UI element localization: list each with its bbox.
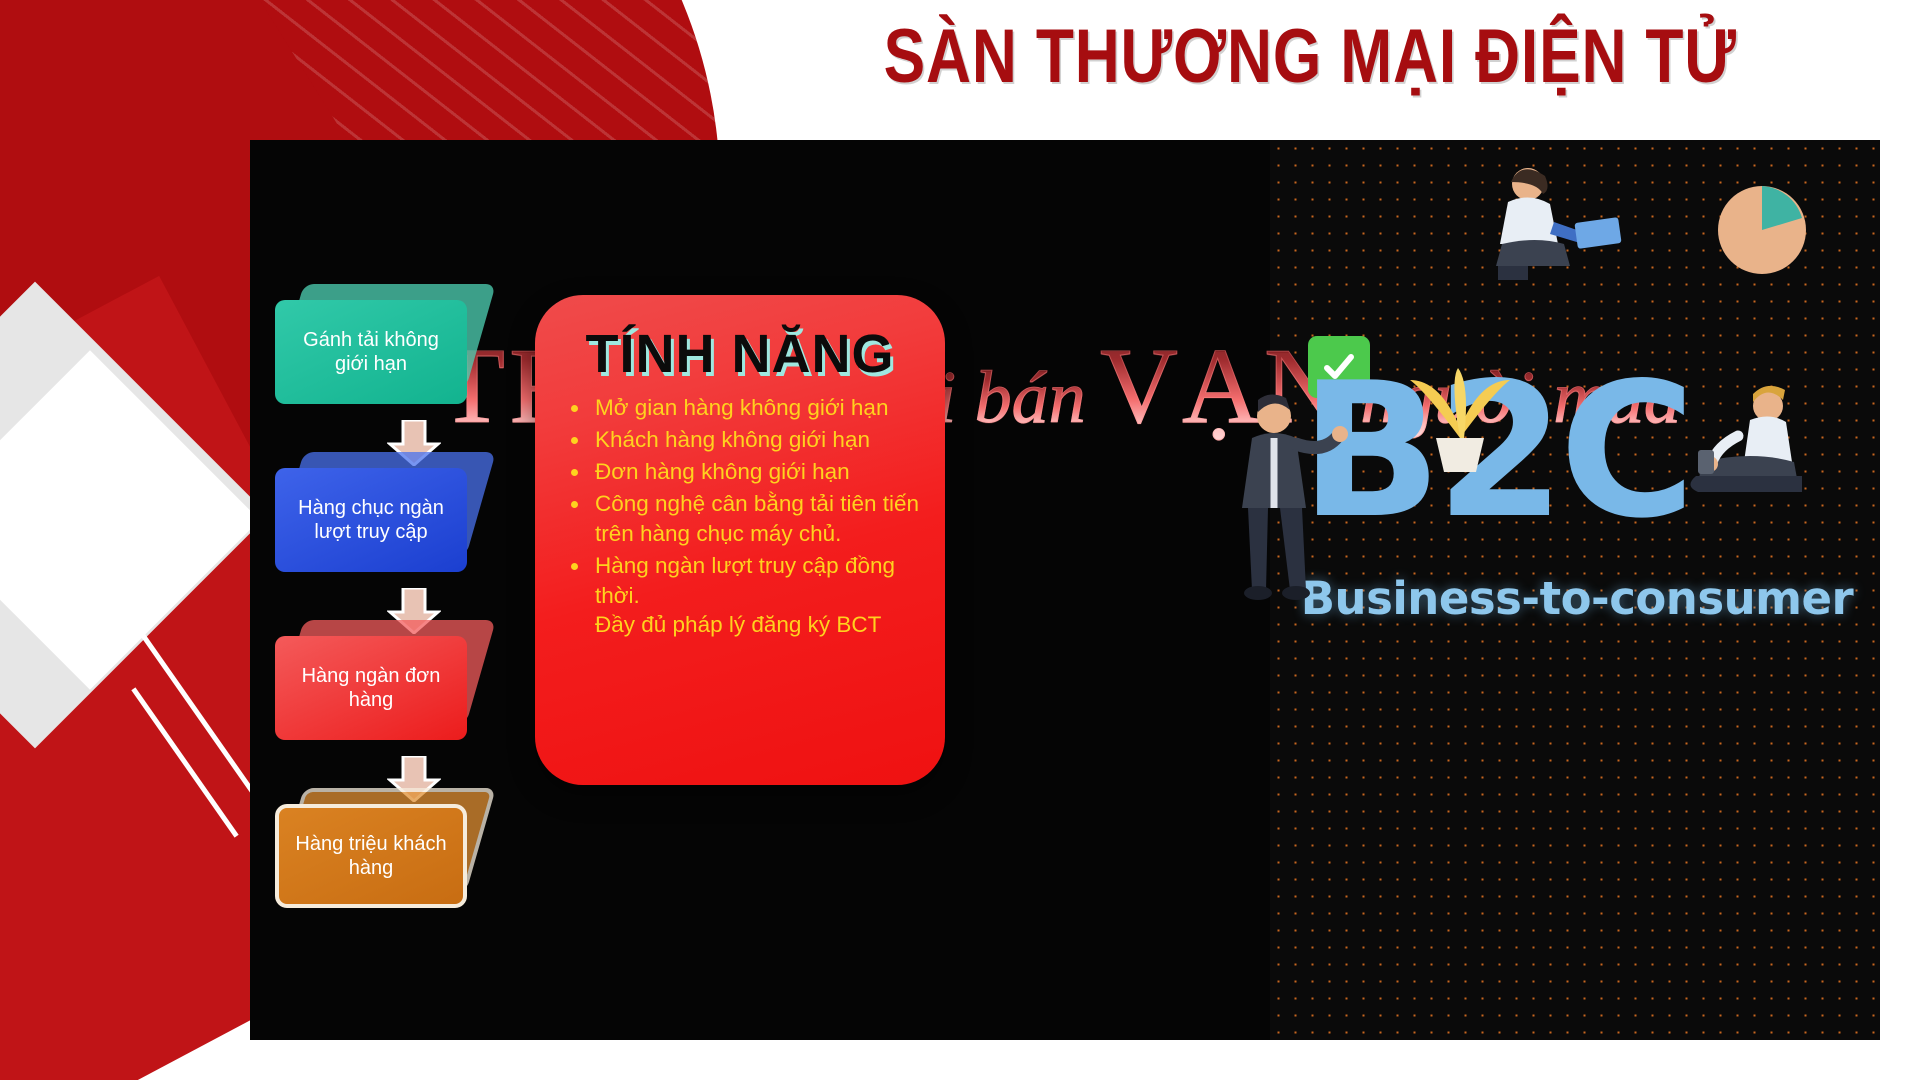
pie-chart-icon: [1702, 170, 1822, 290]
woman-with-laptop-figure-icon: [1478, 162, 1628, 282]
page-title: SÀN THƯƠNG MẠI ĐIỆN TỬ: [740, 6, 1880, 106]
feature-bullet-list: Mở gian hàng không giới hạn Khách hàng k…: [547, 393, 933, 640]
flow-step-label: Hàng ngàn đơn hàng: [285, 664, 457, 713]
seated-person-figure-icon: [1672, 380, 1837, 520]
flow-step-label: Gánh tải không giới hạn: [285, 328, 457, 377]
flow-step: Gánh tải không giới hạn: [275, 300, 475, 410]
flow-step: Hàng ngàn đơn hàng: [275, 636, 475, 746]
businessman-figure-icon: [1218, 390, 1348, 600]
flow-step-label: Hàng chục ngàn lượt truy cập: [285, 496, 457, 545]
b2c-subtitle-text: Business-to-consumer: [1282, 572, 1872, 625]
flow-step-label: Hàng triệu khách hàng: [289, 832, 453, 881]
flow-step: Hàng triệu khách hàng: [275, 804, 475, 914]
feature-bullet-item: Hàng ngàn lượt truy cập đồng thời. Đầy đ…: [561, 551, 927, 641]
potted-plant-icon: [1396, 338, 1524, 478]
flow-step-box-traffic: Hàng chục ngàn lượt truy cập: [275, 468, 467, 572]
flowchart: Gánh tải không giới hạn Hàng chục ngàn l…: [275, 300, 505, 910]
feature-bullet-item: Đơn hàng không giới hạn: [561, 457, 927, 487]
b2c-illustration: B2C Business-to-consumer: [1270, 140, 1880, 1040]
flow-step-box-orders: Hàng ngàn đơn hàng: [275, 636, 467, 740]
feature-card: TÍNH NĂNG Mở gian hàng không giới hạn Kh…: [535, 295, 945, 785]
flow-step-box-customers: Hàng triệu khách hàng: [275, 804, 467, 908]
feature-bullet-item: Công nghệ cân bằng tải tiên tiến trên hà…: [561, 489, 927, 549]
feature-card-title: TÍNH NĂNG: [547, 323, 933, 385]
flow-step-box-load: Gánh tải không giới hạn: [275, 300, 467, 404]
feature-bullet-item: Mở gian hàng không giới hạn: [561, 393, 927, 423]
slide-panel: TRĂM người bán VẠN người mua Gánh tải kh…: [250, 140, 1880, 1040]
feature-extra-line: Đầy đủ pháp lý đăng ký BCT: [595, 610, 927, 640]
page-title-text: SÀN THƯƠNG MẠI ĐIỆN TỬ: [883, 13, 1736, 100]
feature-bullet-text: Hàng ngàn lượt truy cập đồng thời.: [595, 553, 895, 608]
feature-bullet-item: Khách hàng không giới hạn: [561, 425, 927, 455]
flow-step: Hàng chục ngàn lượt truy cập: [275, 468, 475, 578]
